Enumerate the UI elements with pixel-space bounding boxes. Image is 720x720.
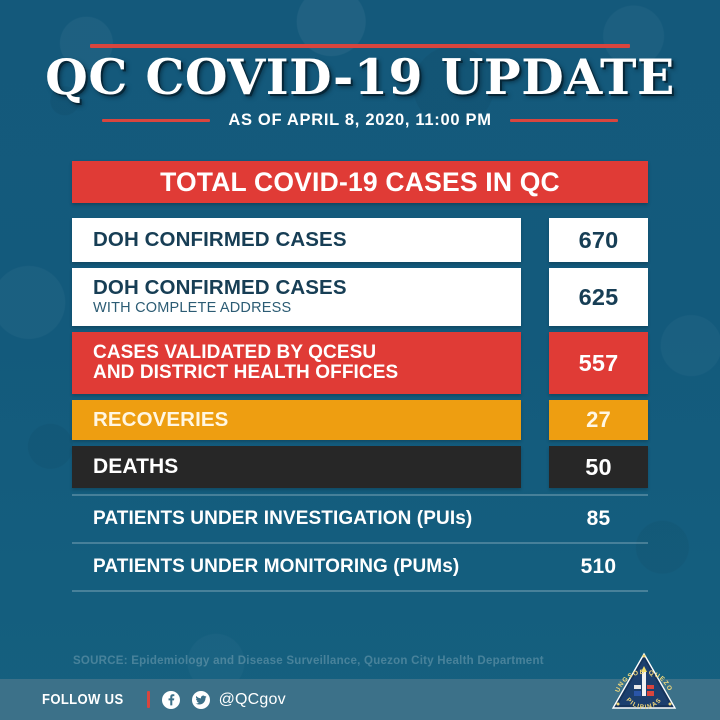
row-gap	[521, 496, 549, 542]
row-label-cell: PATIENTS UNDER MONITORING (PUMs)	[72, 544, 521, 590]
social-handle[interactable]: @QCgov	[219, 691, 286, 709]
row-value: 670	[579, 227, 619, 254]
footer-separator	[147, 691, 150, 708]
row-value-cell: 510	[549, 544, 648, 590]
row-value: 625	[579, 284, 619, 311]
row-label-line1: CASES VALIDATED BY QCESU	[93, 343, 521, 363]
table-row: PATIENTS UNDER MONITORING (PUMs) 510	[72, 542, 648, 592]
total-cases-banner: TOTAL COVID-19 CASES IN QC	[72, 161, 648, 203]
row-value-cell: 27	[549, 400, 648, 440]
row-label: PATIENTS UNDER INVESTIGATION (PUIs)	[93, 509, 521, 529]
row-label-cell: CASES VALIDATED BY QCESU AND DISTRICT HE…	[72, 332, 521, 394]
date-line-group: AS OF APRIL 8, 2020, 11:00 PM	[0, 110, 720, 130]
facebook-icon[interactable]	[162, 691, 180, 709]
row-gap	[521, 400, 549, 440]
row-label-cell: PATIENTS UNDER INVESTIGATION (PUIs)	[72, 496, 521, 542]
row-value: 50	[585, 454, 612, 481]
row-value-cell: 670	[549, 218, 648, 262]
date-line: AS OF APRIL 8, 2020, 11:00 PM	[228, 111, 491, 130]
table-row: DOH CONFIRMED CASES 670	[72, 218, 648, 262]
row-label: DOH CONFIRMED CASES	[93, 229, 521, 251]
row-value-cell: 50	[549, 446, 648, 488]
table-row: CASES VALIDATED BY QCESU AND DISTRICT HE…	[72, 332, 648, 394]
total-cases-banner-label: TOTAL COVID-19 CASES IN QC	[160, 167, 560, 198]
stats-table: DOH CONFIRMED CASES 670 DOH CONFIRMED CA…	[72, 218, 648, 592]
row-sublabel: WITH COMPLETE ADDRESS	[93, 301, 521, 317]
twitter-icon[interactable]	[192, 691, 210, 709]
row-label-line2: AND DISTRICT HEALTH OFFICES	[93, 363, 521, 383]
row-value: 85	[587, 507, 611, 531]
row-gap	[521, 544, 549, 590]
quezon-city-seal-logo: LUNGSOD QUEZON PILIPINAS	[608, 648, 680, 714]
table-row: DOH CONFIRMED CASES WITH COMPLETE ADDRES…	[72, 268, 648, 326]
row-value: 557	[579, 350, 619, 377]
row-label: RECOVERIES	[93, 409, 521, 431]
covid-update-poster: QC COVID-19 UPDATE AS OF APRIL 8, 2020, …	[0, 0, 720, 720]
row-label: PATIENTS UNDER MONITORING (PUMs)	[93, 557, 521, 577]
row-value-cell: 85	[549, 496, 648, 542]
row-gap	[521, 332, 549, 394]
row-value: 27	[586, 407, 611, 433]
row-label-cell: RECOVERIES	[72, 400, 521, 440]
row-label: DOH CONFIRMED CASES	[93, 277, 521, 299]
source-note: SOURCE: Epidemiology and Disease Surveil…	[73, 655, 544, 667]
table-row: PATIENTS UNDER INVESTIGATION (PUIs) 85	[72, 494, 648, 542]
row-gap	[521, 268, 549, 326]
row-value: 510	[581, 555, 617, 579]
row-label-cell: DOH CONFIRMED CASES	[72, 218, 521, 262]
row-label-cell: DOH CONFIRMED CASES WITH COMPLETE ADDRES…	[72, 268, 521, 326]
table-row: DEATHS 50	[72, 446, 648, 488]
row-gap	[521, 446, 549, 488]
table-row: RECOVERIES 27	[72, 400, 648, 440]
row-label-cell: DEATHS	[72, 446, 521, 488]
row-label: DEATHS	[93, 456, 521, 478]
row-value-cell: 557	[549, 332, 648, 394]
date-rule-left	[102, 119, 210, 122]
date-rule-right	[510, 119, 618, 122]
page-title: QC COVID-19 UPDATE	[0, 48, 720, 106]
row-gap	[521, 218, 549, 262]
row-value-cell: 625	[549, 268, 648, 326]
follow-us-label: FOLLOW US	[42, 692, 124, 708]
